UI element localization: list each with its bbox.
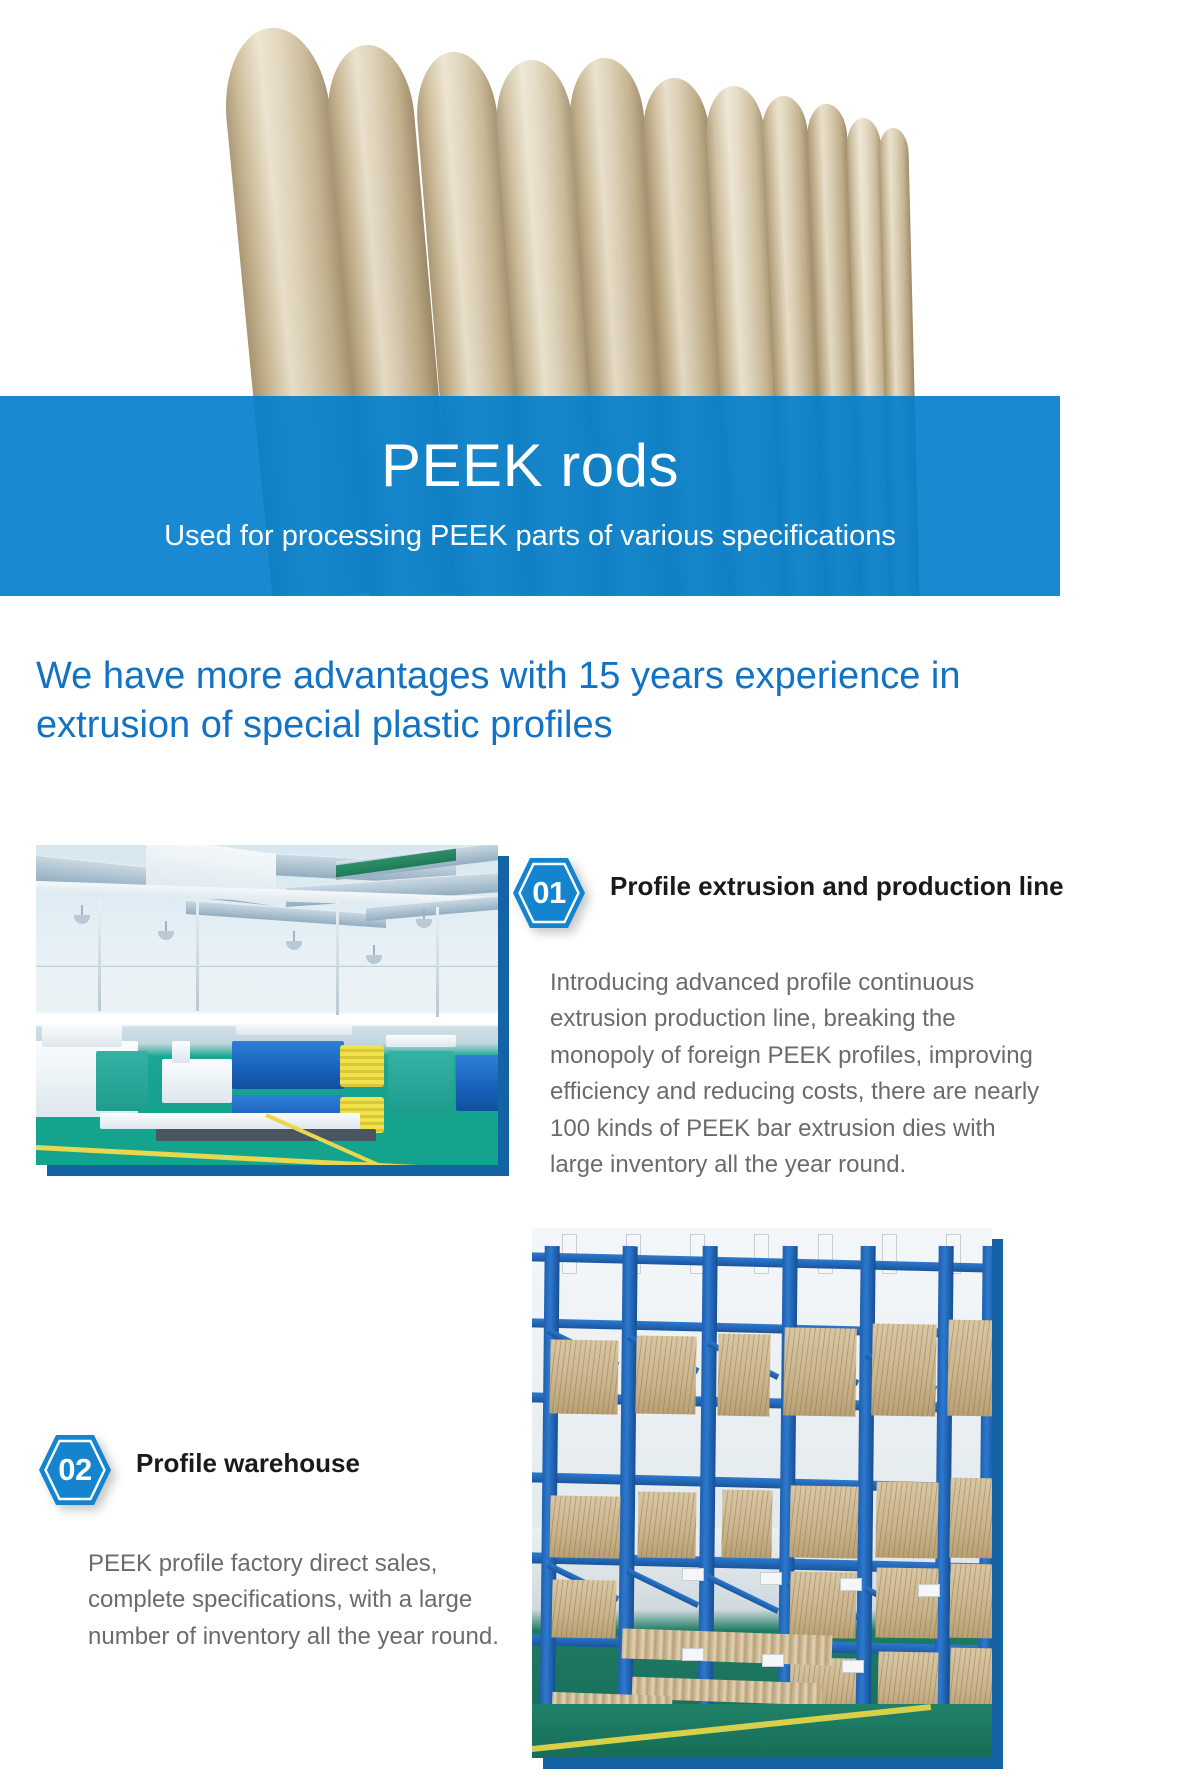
feature-badge-number: 02 — [36, 1432, 114, 1508]
feature-01-image-wrap — [36, 845, 498, 1165]
shelf-tag — [840, 1578, 862, 1591]
shelf-tag — [842, 1660, 864, 1673]
rod-bundle — [875, 1567, 938, 1638]
photo-detail — [42, 1025, 122, 1047]
page-title: PEEK rods — [381, 434, 679, 497]
rod-bundle — [871, 1323, 937, 1416]
section-headline: We have more advantages with 15 years ex… — [36, 652, 1046, 749]
rod-bundle — [789, 1485, 858, 1558]
photo-detail — [386, 1035, 456, 1047]
rod-bundle — [637, 1491, 696, 1558]
photo-detail — [96, 1051, 148, 1111]
rod-bundle — [875, 1481, 938, 1558]
rod-bundle — [949, 1564, 992, 1639]
rod-bundle — [721, 1490, 772, 1559]
profile-warehouse-photo — [532, 1228, 992, 1758]
feature-badge-02: 02 — [36, 1432, 114, 1508]
hero-section: PEEK rods Used for processing PEEK parts… — [0, 0, 1200, 596]
shelf-tag — [682, 1648, 704, 1661]
photo-detail — [236, 1023, 352, 1035]
rack-label — [754, 1234, 769, 1274]
page-subtitle: Used for processing PEEK parts of variou… — [164, 519, 896, 554]
feature-02-image-wrap — [532, 1228, 992, 1758]
shelf-tag — [918, 1584, 940, 1597]
feature-badge-number: 01 — [510, 855, 588, 931]
yellow-reel — [340, 1045, 384, 1087]
warehouse-floor — [532, 1704, 992, 1758]
rod-bundle — [949, 1478, 992, 1559]
rod-bundle — [783, 1327, 857, 1416]
photo-detail — [456, 1055, 498, 1111]
photo-detail — [172, 1041, 190, 1063]
photo-detail — [196, 891, 199, 1011]
product-detail-page: PEEK rods Used for processing PEEK parts… — [0, 0, 1200, 1787]
feature-01-text: 01 Profile extrusion and production line… — [510, 855, 1070, 1184]
photo-detail — [100, 1113, 360, 1129]
hero-banner: PEEK rods Used for processing PEEK parts… — [0, 396, 1060, 596]
feature-title: Profile extrusion and production line — [610, 855, 1064, 903]
photo-detail — [98, 901, 101, 1011]
rod-bundle — [947, 1320, 992, 1417]
photo-detail — [336, 897, 339, 1015]
photo-detail — [156, 1129, 376, 1141]
rod-bundle — [717, 1334, 770, 1417]
feature-02-text: 02 Profile warehouse PEEK profile factor… — [36, 1432, 506, 1655]
feature-body: PEEK profile factory direct sales, compl… — [88, 1546, 528, 1655]
extrusion-production-line-photo — [36, 845, 498, 1165]
rod-bundle — [551, 1579, 616, 1638]
photo-detail — [436, 907, 439, 1017]
shelf-tag — [760, 1572, 782, 1585]
feature-title: Profile warehouse — [136, 1432, 360, 1480]
rod-bundle — [549, 1495, 620, 1558]
shelf-tag — [682, 1568, 704, 1581]
photo-detail — [36, 965, 498, 967]
blue-extruder — [232, 1041, 344, 1089]
feature-body: Introducing advanced profile continuous … — [550, 965, 1050, 1184]
shelf-tag — [762, 1654, 784, 1667]
photo-detail — [162, 1059, 232, 1103]
photo-detail — [388, 1051, 454, 1113]
rod-bundle — [549, 1339, 618, 1414]
feature-badge-01: 01 — [510, 855, 588, 931]
rod-bundle — [635, 1335, 696, 1414]
